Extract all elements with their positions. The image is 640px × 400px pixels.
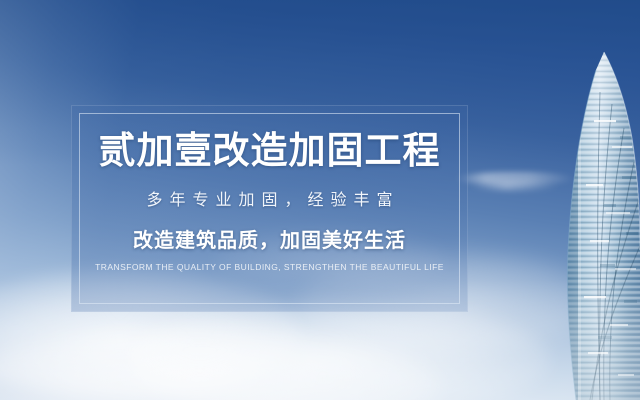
- page-title: 贰加壹改造加固工程: [99, 130, 441, 171]
- panel-content: 贰加壹改造加固工程 多年专业加固，经验丰富 改造建筑品质，加固美好生活 TRAN…: [71, 105, 468, 312]
- subtitle: 多年专业加固，经验丰富: [139, 186, 399, 210]
- banner-image: 贰加壹改造加固工程 多年专业加固，经验丰富 改造建筑品质，加固美好生活 TRAN…: [0, 0, 640, 400]
- slogan: 改造建筑品质，加固美好生活: [133, 224, 406, 253]
- hero-text-panel: 贰加壹改造加固工程 多年专业加固，经验丰富 改造建筑品质，加固美好生活 TRAN…: [71, 105, 468, 312]
- english-tagline: TRANSFORM THE QUALITY OF BUILDING, STREN…: [95, 262, 444, 272]
